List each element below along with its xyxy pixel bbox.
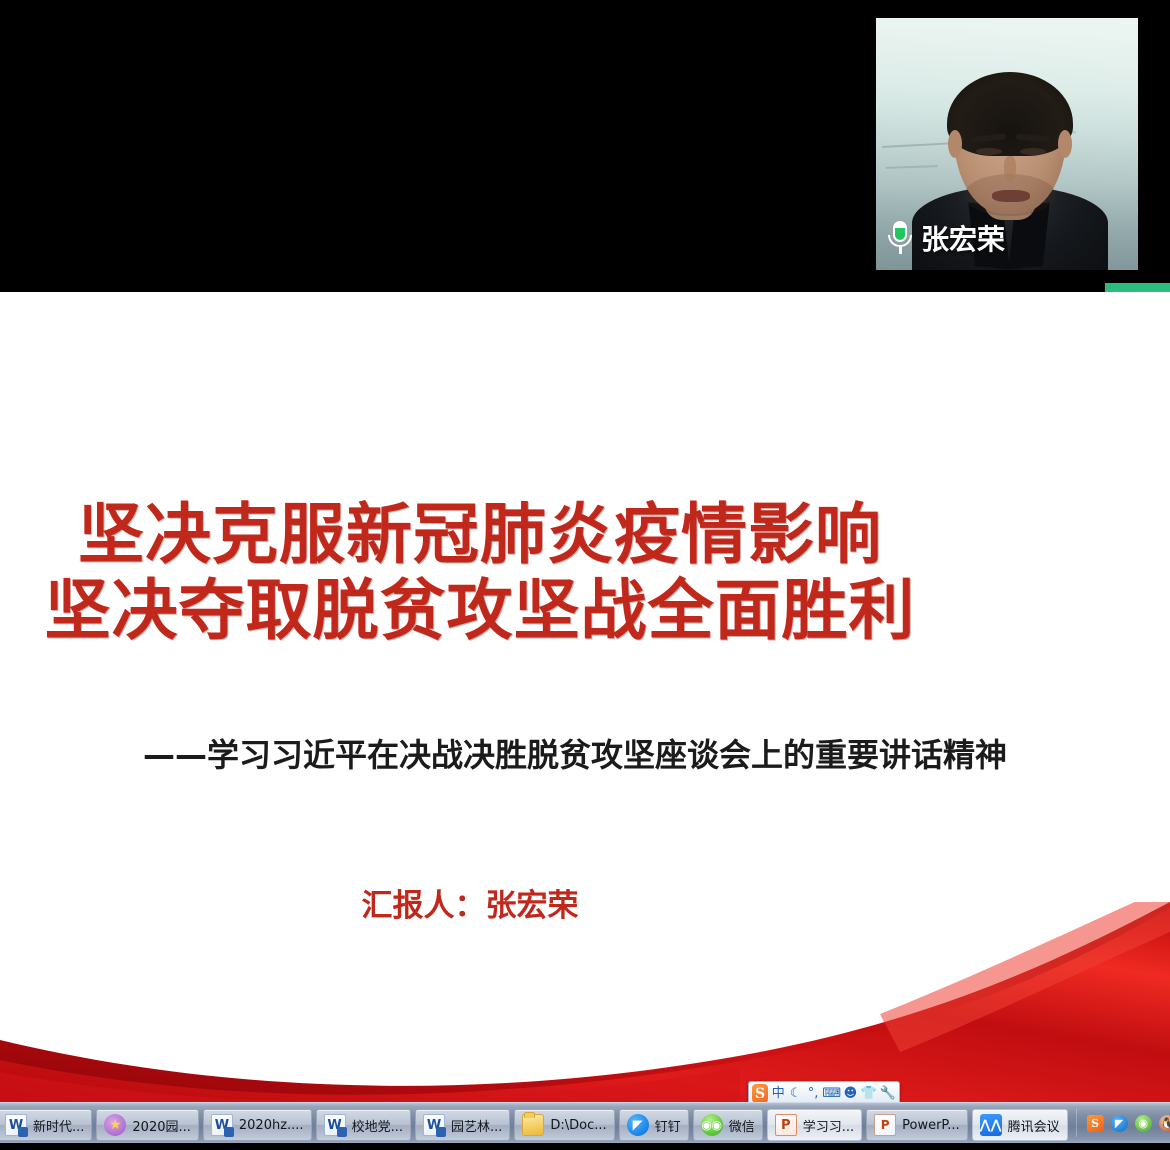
taskbar-button-label: 钉钉 — [655, 1116, 681, 1135]
taskbar-button[interactable]: PPowerP... — [866, 1109, 968, 1141]
word-icon: W — [324, 1114, 346, 1136]
taskbar-button[interactable]: W园艺林... — [415, 1109, 510, 1141]
participant-label-row: 张宏荣 — [886, 218, 1005, 258]
word-icon: W — [5, 1114, 27, 1136]
sogou-logo-icon[interactable]: S — [752, 1084, 768, 1103]
microphone-icon[interactable] — [886, 221, 914, 255]
user-icon[interactable]: ☻ — [843, 1084, 857, 1103]
taskbar-button[interactable]: ◉◉微信 — [693, 1109, 763, 1141]
folder-icon — [522, 1114, 544, 1136]
sogou-tray-icon[interactable]: S — [1087, 1115, 1104, 1132]
slide-subtitle: ——学习习近平在决战决胜脱贫攻坚座谈会上的重要讲话精神 — [0, 730, 1150, 776]
powerpoint-doc-icon: P — [874, 1114, 896, 1136]
wechat-icon: ◉◉ — [701, 1114, 723, 1136]
ear-left — [948, 130, 962, 158]
chinese-mode-icon[interactable]: 中 — [771, 1084, 785, 1103]
taskbar-button[interactable]: W2020hz.... — [203, 1109, 312, 1141]
taskbar-button[interactable]: ★2020园... — [96, 1109, 198, 1141]
ear-right — [1058, 130, 1072, 158]
eye-left — [976, 148, 1002, 155]
nose — [1004, 156, 1016, 182]
screen-bottom-filler — [0, 1143, 1170, 1150]
participant-video-tile[interactable]: 张宏荣 — [876, 18, 1138, 270]
participant-name: 张宏荣 — [921, 218, 1005, 258]
eye-right — [1020, 148, 1046, 155]
taskbar-button-label: 腾讯会议 — [1008, 1116, 1060, 1135]
moon-icon[interactable]: ☾ — [788, 1084, 802, 1103]
wechat-tray-icon[interactable]: ◉ — [1135, 1115, 1152, 1132]
punctuation-icon[interactable]: °, — [806, 1084, 820, 1103]
taskbar-button-label: D:\Doc... — [550, 1118, 606, 1133]
taskbar-button-label: 新时代... — [33, 1116, 84, 1135]
taskbar-button-label: PowerP... — [902, 1118, 960, 1133]
system-tray: S◤◉🐧🔊✛✓⌸ — [1081, 1103, 1170, 1143]
taskbar-button-label: 校地党... — [352, 1116, 403, 1135]
screen: 张宏荣 — [0, 0, 1170, 1150]
taskbar-button[interactable]: W新时代... — [0, 1109, 92, 1141]
soft-keyboard-icon[interactable]: ⌨ — [823, 1084, 840, 1103]
word-icon: W — [211, 1114, 233, 1136]
word-icon: W — [423, 1114, 445, 1136]
taskbar-button-label: 2020园... — [132, 1116, 190, 1135]
tencent-meeting-icon: ⋀⋀ — [980, 1114, 1002, 1136]
taskbar-button-label: 2020hz.... — [239, 1118, 304, 1133]
hair — [947, 72, 1073, 156]
slide-title-line-2: 坚决夺取脱贫攻坚战全面胜利 — [0, 573, 960, 649]
skin-icon[interactable]: 👕 — [861, 1084, 877, 1103]
powerpoint-icon: P — [775, 1114, 797, 1136]
taskbar-buttons: W新时代...★2020园...W2020hz....W校地党...W园艺林..… — [0, 1103, 1070, 1143]
mouth — [992, 190, 1030, 202]
qq-tray-icon[interactable]: 🐧 — [1159, 1115, 1170, 1132]
presentation-slide[interactable]: 坚决克服新冠肺炎疫情影响 坚决夺取脱贫攻坚战全面胜利 ——学习习近平在决战决胜脱… — [0, 292, 1170, 1102]
slide-title-line-1: 坚决克服新冠肺炎疫情影响 — [0, 497, 960, 573]
taskbar-button-label: 学习习... — [803, 1116, 854, 1135]
taskbar[interactable]: W新时代...★2020园...W2020hz....W校地党...W园艺林..… — [0, 1102, 1170, 1143]
dingtalk-icon: ◤ — [627, 1114, 649, 1136]
taskbar-button-label: 园艺林... — [451, 1116, 502, 1135]
taskbar-button[interactable]: W校地党... — [316, 1109, 411, 1141]
star-app-icon: ★ — [104, 1114, 126, 1136]
red-ribbon-decoration — [0, 902, 1170, 1102]
tray-divider[interactable] — [1076, 1109, 1077, 1137]
slide-title: 坚决克服新冠肺炎疫情影响 坚决夺取脱贫攻坚战全面胜利 — [0, 497, 960, 649]
taskbar-button[interactable]: ⋀⋀腾讯会议 — [972, 1109, 1068, 1141]
meeting-accent-bar — [1105, 283, 1170, 292]
tools-icon[interactable]: 🔧 — [880, 1084, 896, 1103]
taskbar-button-label: 微信 — [729, 1116, 755, 1135]
taskbar-button[interactable]: ◤钉钉 — [619, 1109, 689, 1141]
dingtalk-tray-icon[interactable]: ◤ — [1111, 1115, 1128, 1132]
slide-presenter: 汇报人：张宏荣 — [0, 880, 940, 925]
meeting-video-band: 张宏荣 — [0, 0, 1170, 283]
taskbar-button[interactable]: P学习习... — [767, 1109, 862, 1141]
taskbar-button[interactable]: D:\Doc... — [514, 1109, 614, 1141]
